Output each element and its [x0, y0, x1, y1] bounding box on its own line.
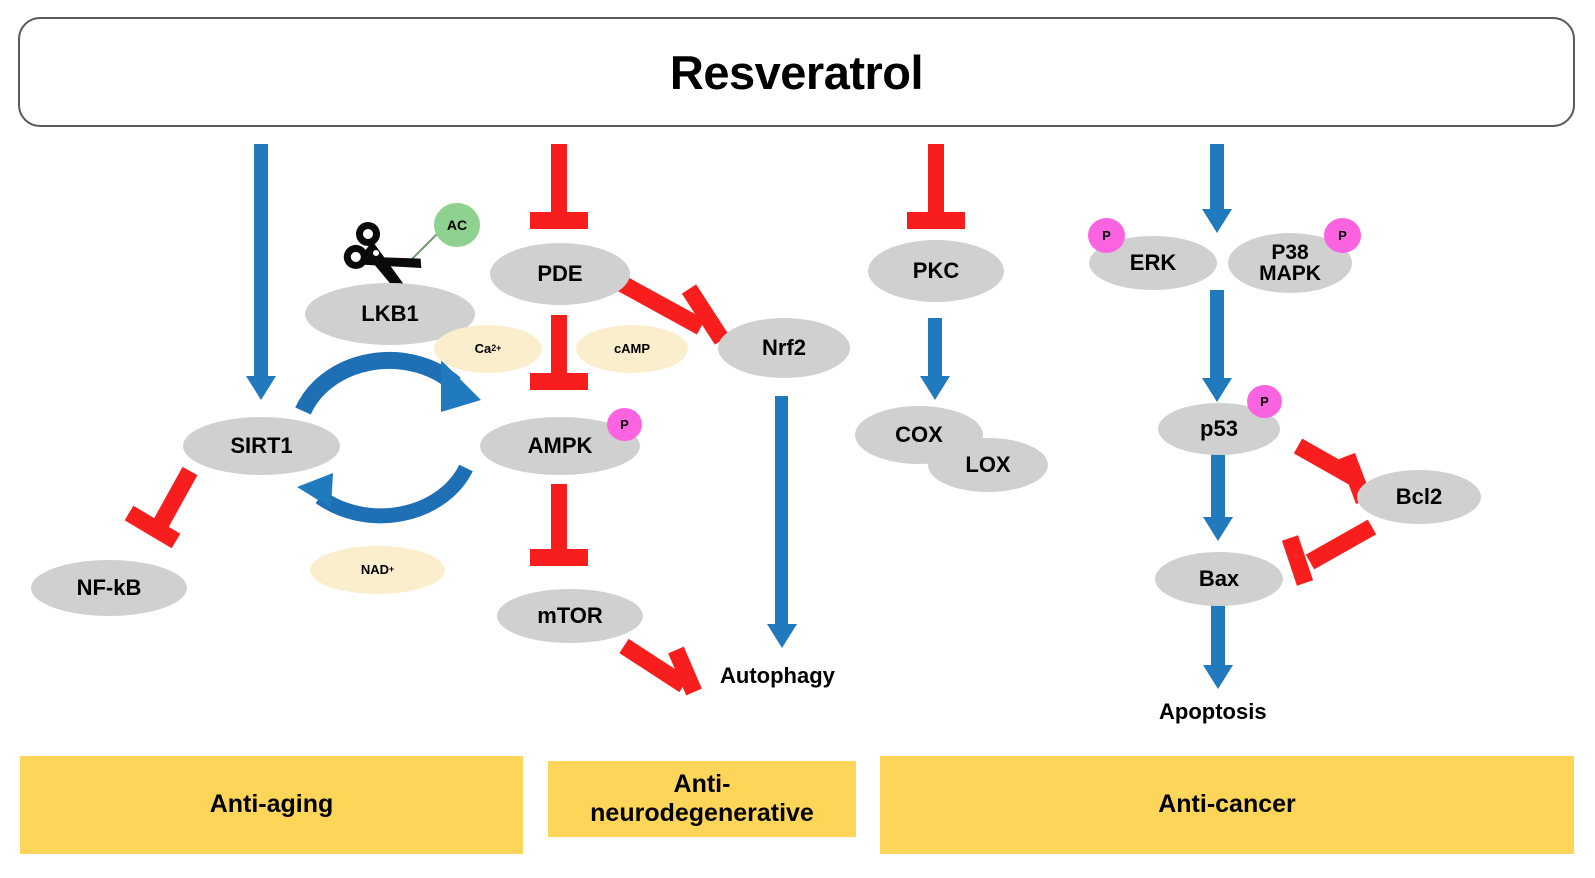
banner-anti-aging[interactable]: Anti-aging — [20, 756, 523, 854]
title-box: Resveratrol — [18, 17, 1575, 127]
nad-superscript: + — [389, 565, 394, 574]
phospho-badge-ampk[interactable]: P — [607, 408, 642, 441]
node-nad[interactable]: NAD+ — [310, 546, 445, 594]
banner-anti-neurodegenerative[interactable]: Anti- neurodegenerative — [548, 761, 856, 837]
calcium-superscript: 2+ — [491, 344, 501, 353]
outcome-apoptosis: Apoptosis — [1159, 699, 1267, 725]
page-title: Resveratrol — [670, 45, 923, 100]
node-pde[interactable]: PDE — [490, 243, 630, 305]
node-bax[interactable]: Bax — [1155, 552, 1283, 606]
banner-neuro-line2: neurodegenerative — [590, 799, 814, 829]
outcome-autophagy: Autophagy — [720, 663, 835, 689]
arrow-resveratrol-to-mapk — [1202, 144, 1232, 233]
pathway-diagram: Resveratrol — [0, 0, 1595, 878]
banner-anti-aging-label: Anti-aging — [210, 790, 334, 820]
arrow-p53-to-bax — [1203, 452, 1233, 541]
node-pkc[interactable]: PKC — [868, 240, 1004, 302]
arrow-bax-to-apoptosis — [1203, 601, 1233, 689]
banner-neuro-line1: Anti- — [674, 770, 731, 800]
node-mtor[interactable]: mTOR — [497, 589, 643, 643]
node-nfkb[interactable]: NF-kB — [31, 560, 187, 616]
inhibitor-sirt1-to-nfkb — [129, 471, 190, 541]
nad-label: NAD — [361, 563, 389, 576]
phospho-badge-erk[interactable]: P — [1088, 218, 1125, 253]
arrow-cycle-ampk-to-sirt1 — [297, 468, 466, 516]
banner-anti-cancer-label: Anti-cancer — [1158, 790, 1296, 820]
inhibitor-bcl2-to-bax — [1290, 527, 1372, 583]
node-sirt1[interactable]: SIRT1 — [183, 417, 340, 475]
arrow-nrf2-to-autophagy — [767, 396, 797, 648]
arrow-mapk-to-p53 — [1202, 290, 1232, 402]
calcium-label: Ca — [475, 342, 492, 355]
inhibitor-p53-to-bcl2 — [1298, 446, 1364, 501]
p38-line2: MAPK — [1259, 263, 1321, 284]
inhibitor-resveratrol-to-pde — [530, 144, 588, 229]
arrow-pkc-to-coxlox — [920, 318, 950, 400]
inhibitor-ampk-to-mtor — [530, 484, 588, 566]
p38-line1: P38 — [1271, 242, 1308, 263]
node-ac[interactable]: AC — [434, 203, 480, 247]
node-bcl2[interactable]: Bcl2 — [1357, 470, 1481, 524]
phospho-badge-p53[interactable]: P — [1247, 385, 1282, 418]
node-camp[interactable]: cAMP — [576, 325, 688, 373]
inhibitor-mtor-to-autophagy — [624, 646, 694, 692]
node-calcium[interactable]: Ca2+ — [434, 325, 542, 373]
arrow-resveratrol-to-sirt1 — [246, 144, 276, 400]
banner-anti-cancer[interactable]: Anti-cancer — [880, 756, 1574, 854]
node-lox[interactable]: LOX — [928, 438, 1048, 492]
phospho-badge-p38[interactable]: P — [1324, 218, 1361, 253]
ac-connector-line — [409, 231, 440, 262]
node-nrf2[interactable]: Nrf2 — [718, 318, 850, 378]
inhibitor-resveratrol-to-pkc — [907, 144, 965, 229]
